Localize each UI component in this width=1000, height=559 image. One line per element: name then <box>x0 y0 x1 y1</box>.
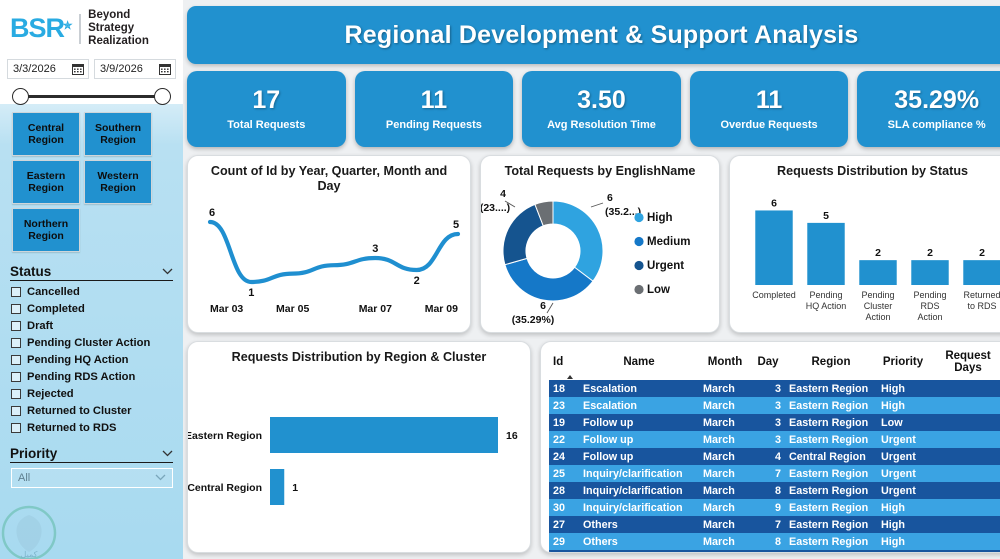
table-row[interactable]: 19Follow upMarch3Eastern RegionLow <box>549 414 1000 431</box>
table-cell-month: March <box>699 533 751 550</box>
table-cell-name: Escalation <box>579 397 699 414</box>
svg-text:Low: Low <box>647 284 670 296</box>
chevron-down-icon[interactable] <box>162 450 173 457</box>
table-cell-id: 19 <box>549 414 579 431</box>
kpi-value: 3.50 <box>577 87 626 113</box>
slider-track[interactable] <box>23 95 160 98</box>
sort-ascending-icon <box>567 375 573 379</box>
page-title: Regional Development & Support Analysis <box>345 21 859 50</box>
svg-text:Medium: Medium <box>647 236 690 248</box>
table-cell-day: 4 <box>751 448 785 465</box>
table-cell-name: Inquiry/clarification <box>579 465 699 482</box>
status-label: Completed <box>27 303 85 315</box>
table-body: 18EscalationMarch3Eastern RegionHigh23Es… <box>549 380 1000 553</box>
kpi-card-avg-resolution-time[interactable]: 3.50 Avg Resolution Time <box>522 71 681 147</box>
table-cell-id: 31 <box>549 550 579 553</box>
brand-name-line1: Beyond Strategy <box>88 9 175 35</box>
svg-text:16: 16 <box>506 430 518 442</box>
requests-table-wrap: Id Name Month Day Region Priority Reques… <box>541 342 1000 552</box>
table-cell-day: 3 <box>751 397 785 414</box>
kpi-card-sla-compliance[interactable]: 35.29% SLA compliance % <box>857 71 1000 147</box>
date-to-value: 3/9/2026 <box>100 63 143 75</box>
table-cell-name: Escalation <box>579 380 699 397</box>
svg-text:Action: Action <box>865 312 890 322</box>
table-cell-region: Eastern Region <box>785 550 877 553</box>
bsr-logo: BSR✮ <box>10 15 72 42</box>
kpi-value: 35.29% <box>894 87 979 113</box>
svg-text:to RDS: to RDS <box>967 301 996 311</box>
date-to-input[interactable]: 3/9/2026 <box>94 59 176 79</box>
svg-text:Completed: Completed <box>752 290 796 300</box>
donut-chart-title: Total Requests by EnglishName <box>481 156 719 179</box>
svg-text:4: 4 <box>500 188 506 200</box>
table-cell-month: March <box>699 465 751 482</box>
table-cell-id: 30 <box>549 499 579 516</box>
svg-text:6: 6 <box>607 192 613 204</box>
checkbox-icon[interactable] <box>11 423 21 433</box>
status-filter-title: Status <box>10 264 51 279</box>
status-label: Draft <box>27 320 53 332</box>
line-chart-card[interactable]: Count of Id by Year, Quarter, Month and … <box>187 155 471 333</box>
svg-text:1: 1 <box>292 482 298 494</box>
table-cell-day: 7 <box>751 465 785 482</box>
region-button-eastern[interactable]: Eastern Region <box>12 160 80 204</box>
table-cell-month: March <box>699 550 751 553</box>
svg-text:3: 3 <box>372 243 378 255</box>
checkbox-icon[interactable] <box>11 304 21 314</box>
table-cell-region: Eastern Region <box>785 516 877 533</box>
table-row[interactable]: 25Inquiry/clarificationMarch7Eastern Reg… <box>549 465 1000 482</box>
table-cell-region: Eastern Region <box>785 397 877 414</box>
donut-chart-card[interactable]: Total Requests by EnglishName 6(35.2...)… <box>480 155 720 333</box>
table-cell-id: 28 <box>549 482 579 499</box>
kpi-label: SLA compliance % <box>888 119 986 131</box>
status-checkbox-pending-hq-action[interactable]: Pending HQ Action <box>11 352 173 369</box>
status-bar-chart-canvas: 6Completed5PendingHQ Action2PendingClust… <box>730 179 1000 329</box>
status-label: Cancelled <box>27 286 80 298</box>
table-row[interactable]: 29OthersMarch8Eastern RegionHigh <box>549 533 1000 550</box>
status-label: Returned to Cluster <box>27 405 131 417</box>
table-cell-priority: Medium <box>877 550 929 553</box>
table-cell-month: March <box>699 516 751 533</box>
table-cell-month: March <box>699 414 751 431</box>
brand-name-line2: Realization <box>88 35 175 48</box>
svg-text:Mar 05: Mar 05 <box>276 303 309 315</box>
table-cell-priority: High <box>877 516 929 533</box>
table-row[interactable]: 27OthersMarch7Eastern RegionHigh <box>549 516 1000 533</box>
region-button-western[interactable]: Western Region <box>84 160 152 204</box>
table-cell-name: Inquiry/clarification <box>579 499 699 516</box>
table-row[interactable]: 22Follow upMarch3Eastern RegionUrgent <box>549 431 1000 448</box>
region-button-northern[interactable]: Northern Region <box>12 208 80 252</box>
brand-name: Beyond Strategy Realization <box>88 9 175 49</box>
column-header-month[interactable]: Month <box>699 348 751 380</box>
kpi-value: 17 <box>252 87 280 113</box>
table-cell-priority: Urgent <box>877 431 929 448</box>
requests-table: Id Name Month Day Region Priority Reques… <box>549 348 1000 553</box>
table-cell-id: 29 <box>549 533 579 550</box>
kpi-label: Avg Resolution Time <box>547 119 656 131</box>
table-header: Id Name Month Day Region Priority Reques… <box>549 348 1000 380</box>
slider-handle-left[interactable] <box>12 88 29 105</box>
status-checkbox-pending-cluster-action[interactable]: Pending Cluster Action <box>11 335 173 352</box>
slider-handle-right[interactable] <box>154 88 171 105</box>
svg-text:1: 1 <box>248 287 254 299</box>
svg-text:Mar 07: Mar 07 <box>359 303 392 315</box>
priority-filter-title: Priority <box>10 446 57 461</box>
region-button-southern[interactable]: Southern Region <box>84 112 152 156</box>
table-cell-day: 8 <box>751 482 785 499</box>
kpi-card-pending-requests[interactable]: 11 Pending Requests <box>355 71 514 147</box>
svg-text:6: 6 <box>771 197 777 209</box>
svg-text:(23....): (23....) <box>481 202 510 214</box>
column-header-id-label: Id <box>553 356 563 368</box>
brand-header: BSR✮ Beyond Strategy Realization <box>0 0 183 55</box>
table-cell-day: 3 <box>751 380 785 397</box>
table-cell-priority: High <box>877 380 929 397</box>
priority-filter-header[interactable]: Priority <box>10 446 173 463</box>
priority-selected-value: All <box>18 472 30 484</box>
table-cell-month: March <box>699 448 751 465</box>
svg-text:Pending: Pending <box>861 290 894 300</box>
line-chart-canvas: 61325Mar 03Mar 05Mar 07Mar 09 <box>188 194 471 328</box>
chart-row-top: Count of Id by Year, Quarter, Month and … <box>187 155 1000 333</box>
status-label: Pending HQ Action <box>27 354 129 366</box>
status-checkbox-draft[interactable]: Draft <box>11 318 173 335</box>
dashboard-main: Regional Development & Support Analysis … <box>183 0 1000 559</box>
table-cell-request-days <box>929 499 1000 516</box>
calendar-icon[interactable] <box>72 63 84 75</box>
table-cell-region: Eastern Region <box>785 482 877 499</box>
table-cell-request-days <box>929 482 1000 499</box>
table-cell-id: 23 <box>549 397 579 414</box>
watermark-logo: كميل <box>0 505 64 559</box>
date-range-filter: 3/3/2026 3/9/2026 <box>0 55 183 79</box>
status-checkbox-completed[interactable]: Completed <box>11 301 173 318</box>
region-bar-chart-card[interactable]: Requests Distribution by Region & Cluste… <box>187 341 531 553</box>
kpi-value: 11 <box>756 87 782 113</box>
svg-text:Cluster: Cluster <box>864 301 893 311</box>
chart-row-bottom: Requests Distribution by Region & Cluste… <box>187 341 1000 553</box>
checkbox-icon[interactable] <box>11 389 21 399</box>
table-cell-priority: High <box>877 533 929 550</box>
table-cell-region: Eastern Region <box>785 431 877 448</box>
table-cell-region: Eastern Region <box>785 533 877 550</box>
checkbox-icon[interactable] <box>11 355 21 365</box>
table-cell-id: 27 <box>549 516 579 533</box>
donut-chart-canvas: 6(35.2...)6(35.29%)4(23....)HighMediumUr… <box>481 179 707 329</box>
table-cell-request-days <box>929 380 1000 397</box>
svg-text:2: 2 <box>875 247 881 259</box>
chevron-down-icon[interactable] <box>162 268 173 275</box>
table-cell-day: 9 <box>751 550 785 553</box>
svg-text:Mar 09: Mar 09 <box>425 303 458 315</box>
checkbox-icon[interactable] <box>11 372 21 382</box>
svg-text:Eastern Region: Eastern Region <box>188 430 262 442</box>
table-cell-request-days <box>929 550 1000 553</box>
table-cell-priority: Urgent <box>877 448 929 465</box>
status-label: Returned to RDS <box>27 422 117 434</box>
svg-text:6: 6 <box>209 207 215 219</box>
table-cell-day: 7 <box>751 516 785 533</box>
dashboard-app: BSR✮ Beyond Strategy Realization 3/3/202… <box>0 0 1000 559</box>
kpi-card-row: 17 Total Requests 11 Pending Requests 3.… <box>187 71 1000 147</box>
region-button-central[interactable]: Central Region <box>12 112 80 156</box>
table-row[interactable]: 24Follow upMarch4Central RegionUrgent <box>549 448 1000 465</box>
table-cell-region: Eastern Region <box>785 380 877 397</box>
table-cell-day: 3 <box>751 431 785 448</box>
region-bar-chart-canvas: 16Eastern Region1Central Region <box>188 365 531 545</box>
date-from-value: 3/3/2026 <box>13 63 56 75</box>
table-cell-priority: Urgent <box>877 465 929 482</box>
svg-text:5: 5 <box>823 210 829 222</box>
table-cell-day: 9 <box>751 499 785 516</box>
table-row[interactable]: 18EscalationMarch3Eastern RegionHigh <box>549 380 1000 397</box>
region-filter-buttons: Central Region Southern Region Eastern R… <box>0 104 183 254</box>
svg-text:Returned: Returned <box>963 290 1000 300</box>
checkbox-icon[interactable] <box>11 287 21 297</box>
status-bar-chart-title: Requests Distribution by Status <box>730 156 1000 179</box>
checkbox-icon[interactable] <box>11 338 21 348</box>
status-label: Rejected <box>27 388 74 400</box>
status-bar-chart-card[interactable]: Requests Distribution by Status 6Complet… <box>729 155 1000 333</box>
table-cell-region: Eastern Region <box>785 499 877 516</box>
table-cell-priority: High <box>877 397 929 414</box>
svg-text:Pending: Pending <box>809 290 842 300</box>
kpi-card-total-requests[interactable]: 17 Total Requests <box>187 71 346 147</box>
table-cell-name: Others <box>579 533 699 550</box>
table-cell-month: March <box>699 482 751 499</box>
column-header-request-days[interactable]: Request Days <box>929 348 1000 380</box>
calendar-icon[interactable] <box>159 63 171 75</box>
kpi-label: Total Requests <box>227 119 305 131</box>
svg-text:كميل: كميل <box>21 550 38 559</box>
date-range-slider[interactable] <box>0 79 183 104</box>
column-header-id[interactable]: Id <box>549 348 579 380</box>
status-label: Pending RDS Action <box>27 371 135 383</box>
table-cell-id: 24 <box>549 448 579 465</box>
kpi-label: Pending Requests <box>386 119 482 131</box>
table-cell-name: Inquiry/clarification <box>579 482 699 499</box>
table-cell-priority: High <box>877 499 929 516</box>
region-bar-chart-title: Requests Distribution by Region & Cluste… <box>188 342 530 365</box>
table-cell-id: 25 <box>549 465 579 482</box>
table-cell-name: Follow up <box>579 448 699 465</box>
table-cell-priority: Urgent <box>877 482 929 499</box>
svg-text:5: 5 <box>453 219 459 231</box>
priority-select[interactable]: All <box>11 468 173 488</box>
status-checkbox-cancelled[interactable]: Cancelled <box>11 284 173 301</box>
table-cell-request-days <box>929 516 1000 533</box>
status-label: Pending Cluster Action <box>27 337 150 349</box>
table-row[interactable]: 23EscalationMarch3Eastern RegionHigh <box>549 397 1000 414</box>
column-header-day[interactable]: Day <box>751 348 785 380</box>
date-from-input[interactable]: 3/3/2026 <box>7 59 89 79</box>
status-checkbox-returned-to-cluster[interactable]: Returned to Cluster <box>11 403 173 420</box>
table-cell-request-days <box>929 448 1000 465</box>
table-cell-request-days <box>929 431 1000 448</box>
svg-text:Action: Action <box>917 312 942 322</box>
table-row[interactable]: 30Inquiry/clarificationMarch9Eastern Reg… <box>549 499 1000 516</box>
dashboard-title-bar: Regional Development & Support Analysis <box>187 6 1000 64</box>
checkbox-icon[interactable] <box>11 321 21 331</box>
svg-text:2: 2 <box>927 247 933 259</box>
filter-sidebar: BSR✮ Beyond Strategy Realization 3/3/202… <box>0 0 183 559</box>
table-cell-month: March <box>699 397 751 414</box>
checkbox-icon[interactable] <box>11 406 21 416</box>
status-filter-header[interactable]: Status <box>10 264 173 281</box>
table-cell-priority: Low <box>877 414 929 431</box>
kpi-label: Overdue Requests <box>720 119 817 131</box>
status-checkbox-rejected[interactable]: Rejected <box>11 386 173 403</box>
table-row[interactable]: 31OthersMarch9Eastern RegionMedium <box>549 550 1000 553</box>
table-cell-name: Follow up <box>579 414 699 431</box>
table-cell-name: Others <box>579 550 699 553</box>
chevron-down-icon[interactable] <box>155 474 166 481</box>
svg-text:2: 2 <box>979 247 985 259</box>
table-cell-id: 22 <box>549 431 579 448</box>
svg-text:High: High <box>647 212 673 224</box>
svg-text:Pending: Pending <box>913 290 946 300</box>
table-cell-month: March <box>699 380 751 397</box>
table-row[interactable]: 28Inquiry/clarificationMarch8Eastern Reg… <box>549 482 1000 499</box>
line-chart-title: Count of Id by Year, Quarter, Month and … <box>188 156 470 194</box>
table-cell-id: 18 <box>549 380 579 397</box>
brand-logo-text: BSR <box>10 13 64 43</box>
svg-text:6: 6 <box>540 300 546 312</box>
svg-text:RDS: RDS <box>920 301 939 311</box>
column-header-priority[interactable]: Priority <box>877 348 929 380</box>
requests-table-card[interactable]: Id Name Month Day Region Priority Reques… <box>540 341 1000 553</box>
table-cell-region: Central Region <box>785 448 877 465</box>
table-cell-request-days <box>929 414 1000 431</box>
table-cell-day: 3 <box>751 414 785 431</box>
status-checkbox-returned-to-rds[interactable]: Returned to RDS <box>11 420 173 437</box>
star-icon: ✮ <box>63 20 71 32</box>
svg-text:Central Region: Central Region <box>188 482 262 494</box>
table-cell-month: March <box>699 499 751 516</box>
svg-text:Mar 03: Mar 03 <box>210 303 243 315</box>
table-cell-name: Follow up <box>579 431 699 448</box>
table-cell-month: March <box>699 431 751 448</box>
kpi-card-overdue-requests[interactable]: 11 Overdue Requests <box>690 71 849 147</box>
column-header-name[interactable]: Name <box>579 348 699 380</box>
svg-text:Urgent: Urgent <box>647 260 684 272</box>
status-filter-list: Cancelled Completed Draft Pending Cluste… <box>0 281 183 437</box>
svg-text:(35.29%): (35.29%) <box>512 314 555 326</box>
svg-text:2: 2 <box>414 275 420 287</box>
column-header-region[interactable]: Region <box>785 348 877 380</box>
svg-text:HQ Action: HQ Action <box>806 301 847 311</box>
table-cell-request-days <box>929 533 1000 550</box>
kpi-value: 11 <box>421 87 447 113</box>
table-cell-request-days <box>929 397 1000 414</box>
table-cell-request-days <box>929 465 1000 482</box>
brand-divider <box>79 14 81 44</box>
table-cell-name: Others <box>579 516 699 533</box>
table-cell-region: Eastern Region <box>785 465 877 482</box>
table-cell-day: 8 <box>751 533 785 550</box>
table-cell-region: Eastern Region <box>785 414 877 431</box>
table-header-row: Id Name Month Day Region Priority Reques… <box>549 348 1000 380</box>
status-checkbox-pending-rds-action[interactable]: Pending RDS Action <box>11 369 173 386</box>
